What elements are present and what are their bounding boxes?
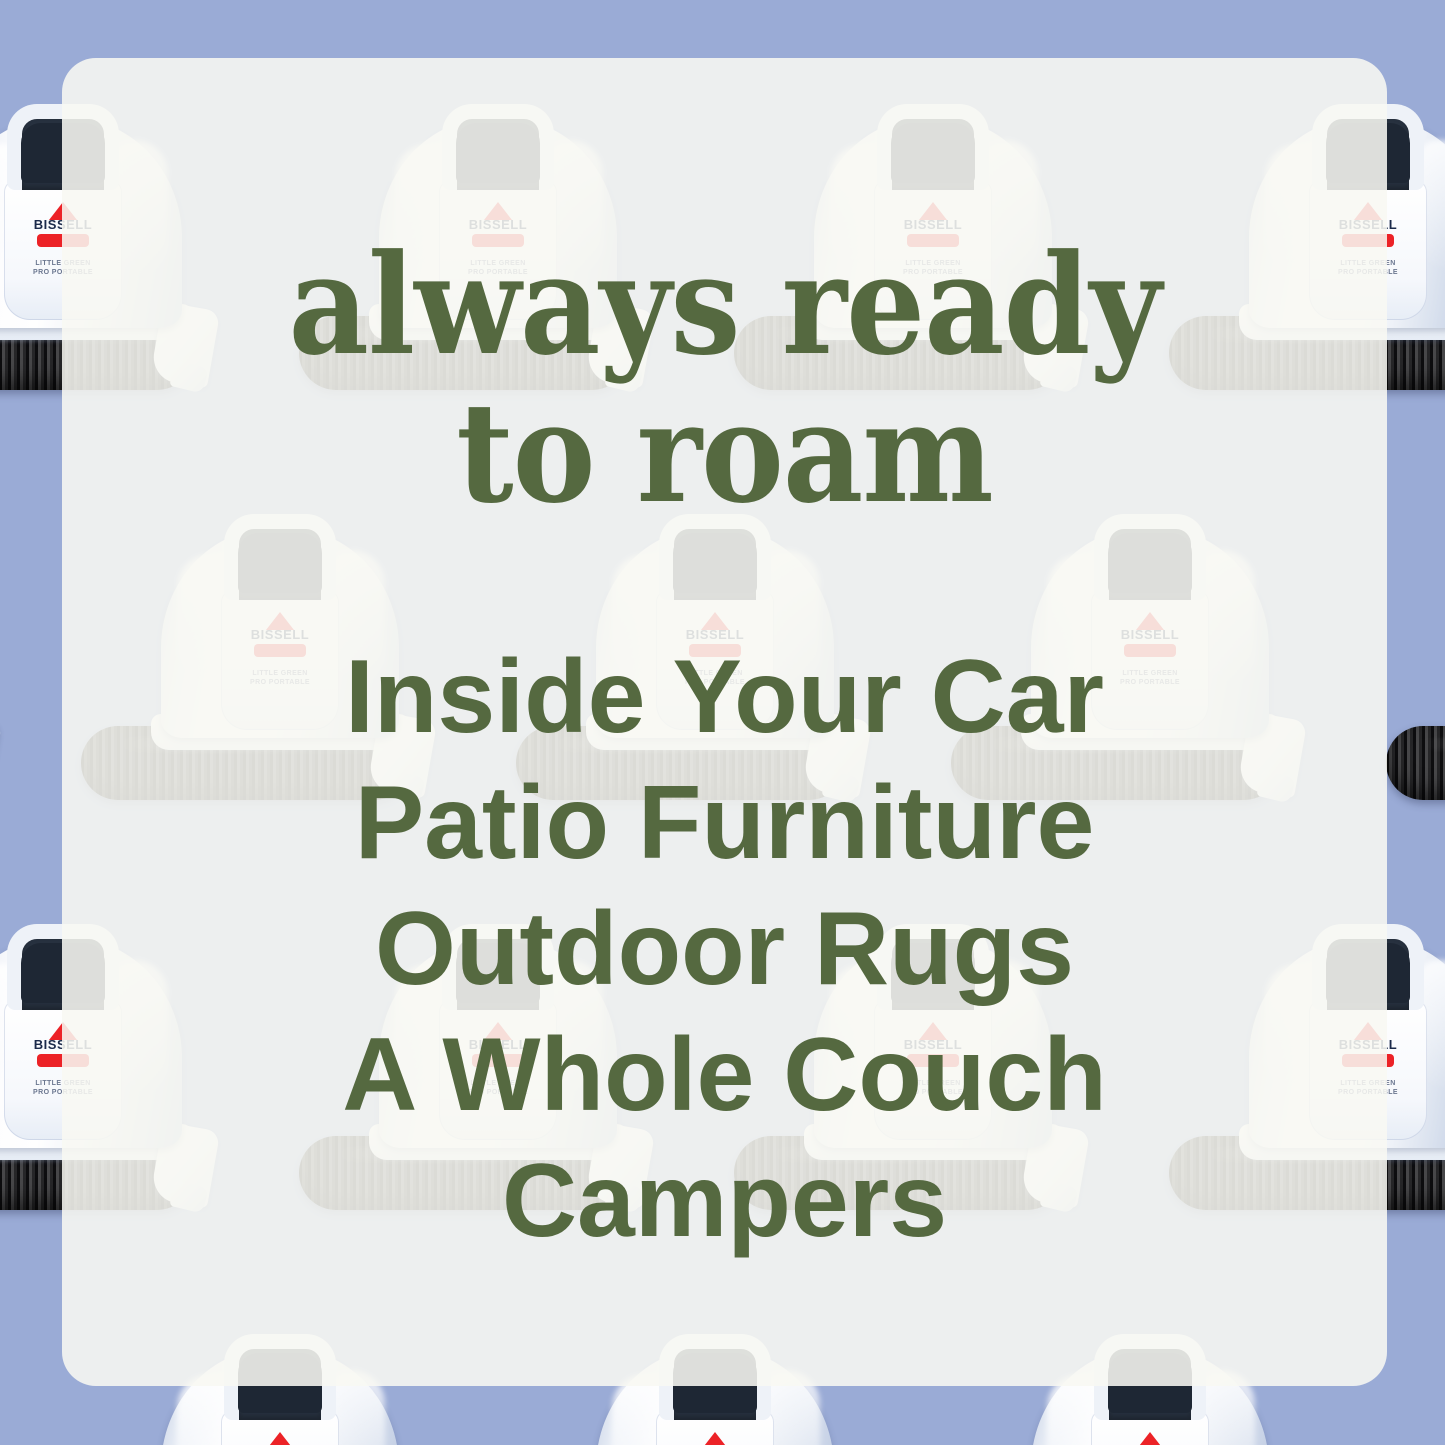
nozzle-tool-icon [0, 712, 2, 799]
bissell-logo: BISSELLLITTLE GREENPRO PORTABLE [244, 1432, 316, 1445]
product-tile: BISSELLLITTLE GREENPRO PORTABLE [1420, 0, 1445, 90]
hose-icon [1386, 726, 1445, 800]
bissell-logo: BISSELLLITTLE GREENPRO PORTABLE [1114, 1432, 1186, 1445]
card-content: always ready to roam Inside Your Car Pat… [62, 58, 1387, 1386]
promo-image-canvas: BISSELLLITTLE GREENPRO PORTABLEBISSELLLI… [0, 0, 1445, 1445]
triangle-icon [266, 1432, 294, 1445]
product-tile: BISSELLLITTLE GREENPRO PORTABLE [0, 520, 10, 910]
use-case-list: Inside Your Car Patio Furniture Outdoor … [62, 634, 1387, 1264]
product-tile: BISSELLLITTLE GREENPRO PORTABLE [0, 0, 10, 90]
triangle-icon [701, 1432, 729, 1445]
triangle-icon [1136, 1432, 1164, 1445]
list-item: Campers [62, 1138, 1387, 1264]
headline-line-1: always ready [62, 234, 1387, 376]
headline-line-2: to roam [62, 382, 1387, 524]
bissell-logo: BISSELLLITTLE GREENPRO PORTABLE [679, 1432, 751, 1445]
product-tile: BISSELLLITTLE GREENPRO PORTABLE [1420, 1340, 1445, 1445]
product-tile: BISSELLLITTLE GREENPRO PORTABLE [0, 1340, 10, 1445]
list-item: Outdoor Rugs [62, 886, 1387, 1012]
list-item: Inside Your Car [62, 634, 1387, 760]
list-item: Patio Furniture [62, 760, 1387, 886]
product-tile: BISSELLLITTLE GREENPRO PORTABLE [1420, 520, 1445, 910]
list-item: A Whole Couch [62, 1012, 1387, 1138]
